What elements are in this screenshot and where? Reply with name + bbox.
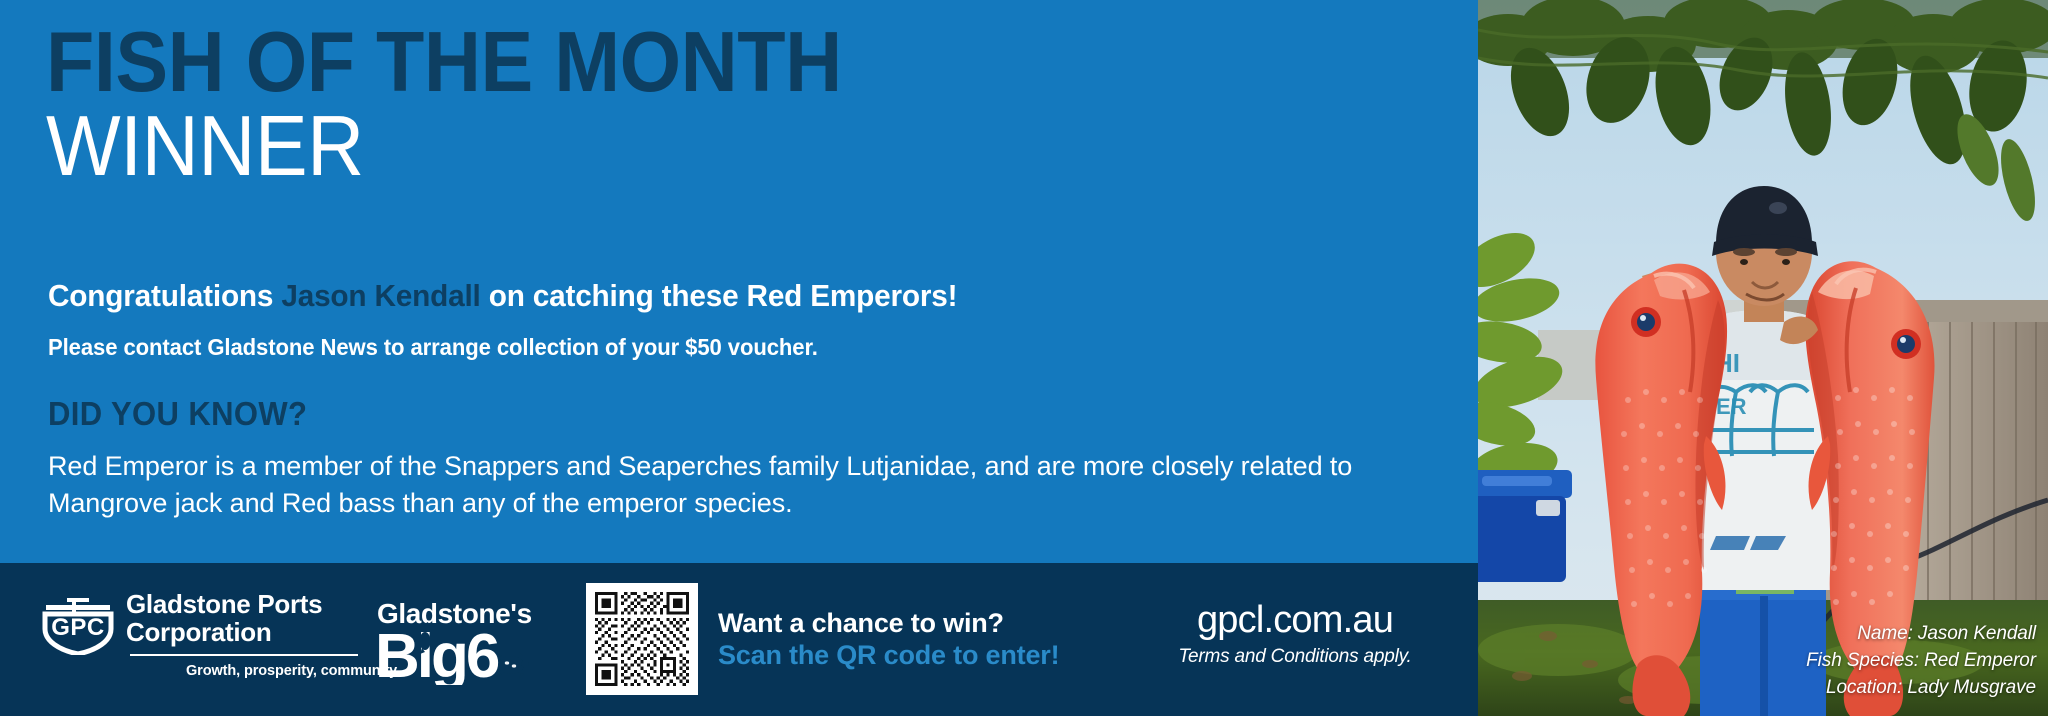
did-you-know-body: Red Emperor is a member of the Snappers … — [48, 448, 1448, 521]
terms-and-conditions-note: Terms and Conditions apply. — [1150, 646, 1440, 668]
fish-of-the-month-winner-banner: FISH OF THE MONTH WINNER Congratulations… — [0, 0, 2048, 716]
caption-name: Name: Jason Kendall — [1806, 621, 2036, 648]
voucher-instruction: Please contact Gladstone News to arrange… — [48, 334, 818, 361]
cta-instruction: Scan the QR code to enter! — [718, 640, 1059, 672]
did-you-know-heading: DID YOU KNOW? — [48, 395, 307, 433]
winner-photo: HI ER — [1478, 0, 2048, 716]
winner-name: Jason Kendall — [281, 278, 480, 313]
gpc-divider — [130, 654, 358, 656]
qr-code-icon[interactable] — [595, 592, 689, 686]
gladstones-big6-logo: Gladstone's Big6 — [375, 598, 545, 684]
gpc-tagline: Growth, prosperity, community. — [186, 663, 400, 679]
gpc-organisation-name: Gladstone Ports Corporation — [126, 591, 400, 646]
call-to-action-block: Want a chance to win? Scan the QR code t… — [718, 608, 1059, 672]
blue-esky-cooler — [1478, 470, 1572, 582]
svg-text:Big6: Big6 — [375, 622, 499, 685]
photo-caption: Name: Jason Kendall Fish Species: Red Em… — [1806, 621, 2036, 702]
gpc-shield-anchor-icon: GPC — [42, 593, 114, 655]
website-block[interactable]: gpcl.com.au Terms and Conditions apply. — [1150, 600, 1440, 668]
winner-photo-illustration: HI ER — [1478, 0, 2048, 716]
gpc-text-wrap: Gladstone Ports Corporation Growth, pros… — [126, 591, 400, 679]
congratulations-prefix: Congratulations — [48, 278, 281, 313]
big6-wordmark-icon: Big6 — [375, 621, 545, 685]
caption-species: Fish Species: Red Emperor — [1806, 648, 2036, 675]
turtle-silhouette-icon — [494, 651, 529, 679]
caption-location: Location: Lady Musgrave — [1806, 675, 2036, 702]
svg-text:ER: ER — [1716, 394, 1747, 419]
congratulations-suffix: on catching these Red Emperors! — [481, 278, 958, 313]
headline-secondary: WINNER — [46, 104, 842, 191]
svg-text:GPC: GPC — [51, 614, 105, 641]
cta-question: Want a chance to win? — [718, 608, 1059, 640]
gladstone-ports-corporation-logo: GPC Gladstone Ports Corporation Growth, … — [42, 591, 400, 679]
qr-code-tile[interactable] — [586, 583, 698, 695]
headline-block: FISH OF THE MONTH WINNER — [46, 22, 902, 190]
website-url[interactable]: gpcl.com.au — [1150, 600, 1440, 642]
congratulations-line: Congratulations Jason Kendall on catchin… — [48, 278, 957, 314]
headline-primary: FISH OF THE MONTH — [46, 22, 842, 104]
